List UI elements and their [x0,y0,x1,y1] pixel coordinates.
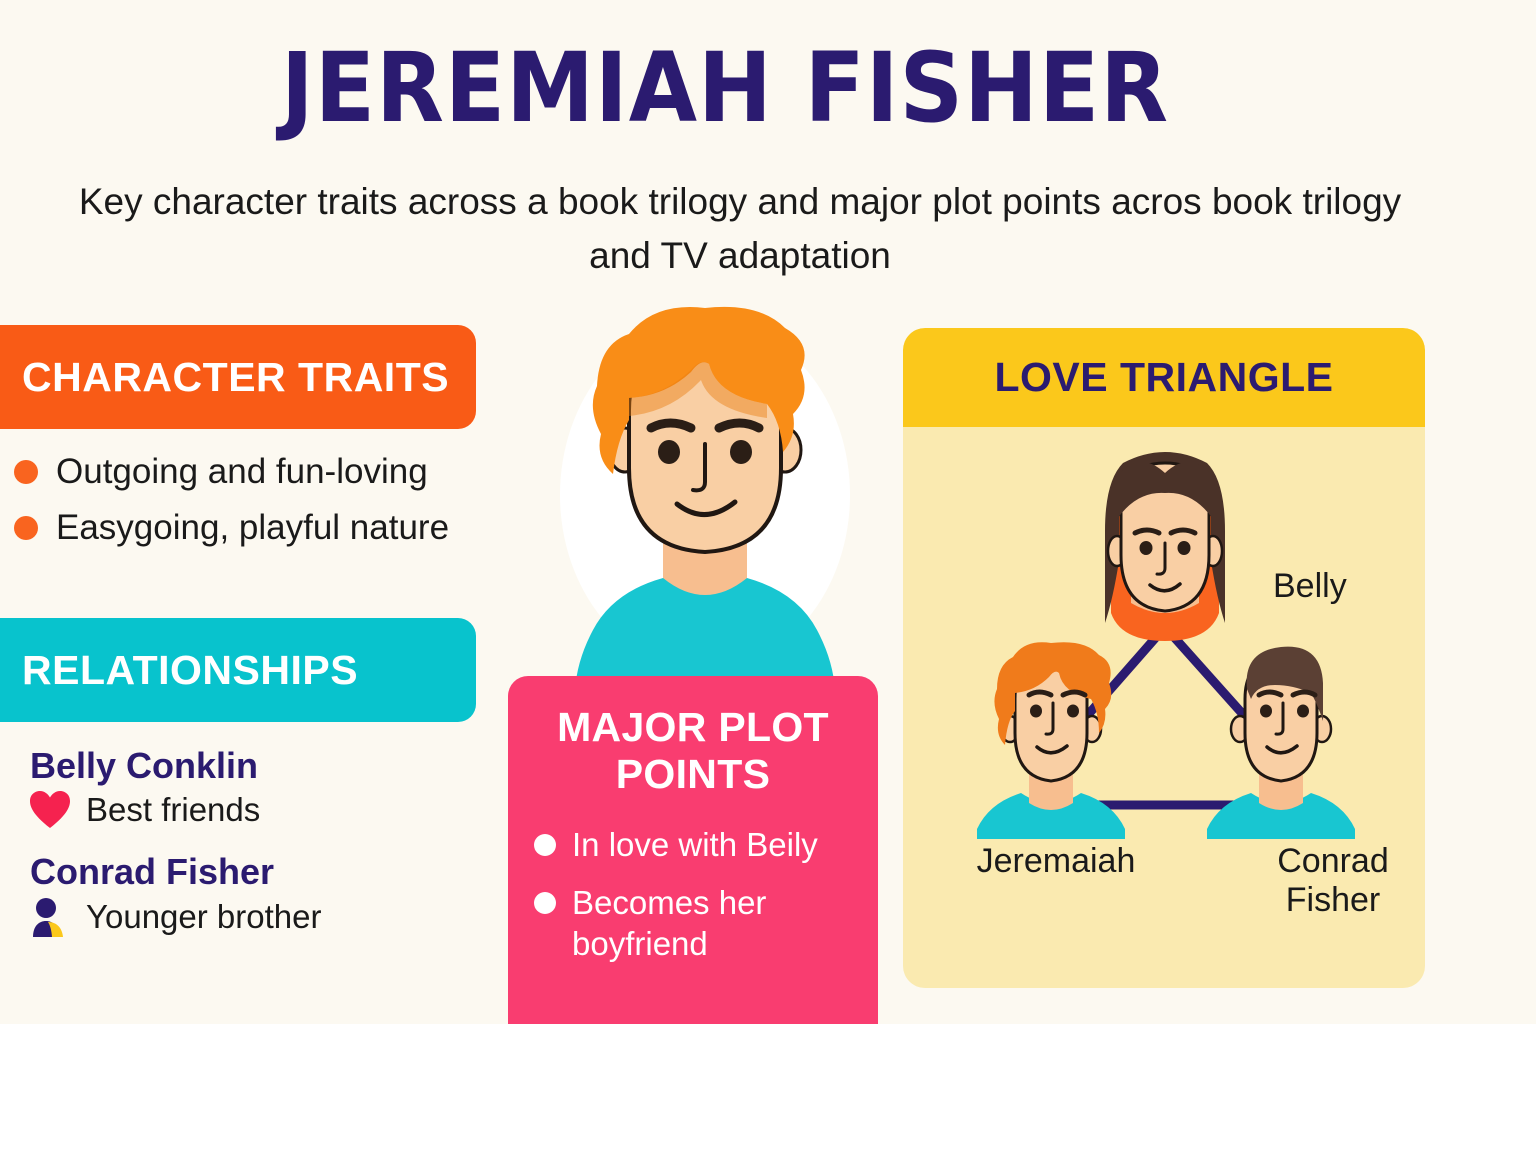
relationship-detail-row: Best friends [30,791,490,829]
love-triangle-node-label-jeremaiah: Jeremaiah [931,842,1181,881]
love-triangle-node-label-conrad: Conrad Fisher [1233,842,1425,920]
relationships-list: Belly Conklin Best friends Conrad Fisher… [30,745,490,959]
plot-point-text: In love with Beily [572,824,818,865]
relationship-name: Belly Conklin [30,745,490,787]
bullet-dot-icon [14,516,38,540]
bullet-dot-icon [534,892,556,914]
page-subtitle: Key character traits across a book trilo… [60,175,1420,282]
trait-text: Outgoing and fun-loving [56,452,428,492]
love-triangle-header-label: LOVE TRIANGLE [994,354,1333,401]
page-title: JEREMIAH FISHER [58,38,1392,139]
conrad-avatar-icon [1207,647,1355,839]
bullet-dot-icon [14,460,38,484]
list-item: Easygoing, playful nature [14,508,484,548]
infographic-canvas: JEREMIAH FISHER Key character traits acr… [0,0,1536,1024]
belly-avatar-icon [1105,452,1225,641]
relationship-detail-row: Younger brother [30,897,490,937]
relationship-name: Conrad Fisher [30,851,490,893]
list-item: Outgoing and fun-loving [14,452,484,492]
relationships-banner-label: RELATIONSHIPS [22,647,358,694]
character-traits-list: Outgoing and fun-loving Easygoing, playf… [14,452,484,564]
character-traits-banner-label: CHARACTER TRAITS [22,354,449,401]
character-traits-banner: CHARACTER TRAITS [0,325,476,429]
relationship-description: Best friends [86,791,260,829]
major-plot-points-title: MAJOR PLOT POINTS [534,704,852,798]
love-triangle-header: LOVE TRIANGLE [903,328,1425,427]
relationship-description: Younger brother [86,898,321,936]
person-icon [30,897,70,937]
love-triangle-diagram: Belly Jeremaiah Conrad Fisher [903,427,1425,988]
plot-point-text: Becomes her boyfriend [572,882,852,965]
bullet-dot-icon [534,834,556,856]
list-item: In love with Beily [534,824,852,865]
trait-text: Easygoing, playful nature [56,508,449,548]
heart-icon [30,791,70,829]
love-triangle-panel: LOVE TRIANGLE [903,328,1425,988]
relationships-banner: RELATIONSHIPS [0,618,476,722]
jeremiah-avatar-icon [505,300,905,690]
love-triangle-node-label-belly: Belly [1273,567,1403,606]
list-item: Conrad Fisher Younger brother [30,851,490,937]
major-plot-points-card: MAJOR PLOT POINTS In love with Beily Bec… [508,676,878,1024]
jeremiah-avatar-icon [977,642,1125,839]
list-item: Becomes her boyfriend [534,882,852,965]
list-item: Belly Conklin Best friends [30,745,490,829]
